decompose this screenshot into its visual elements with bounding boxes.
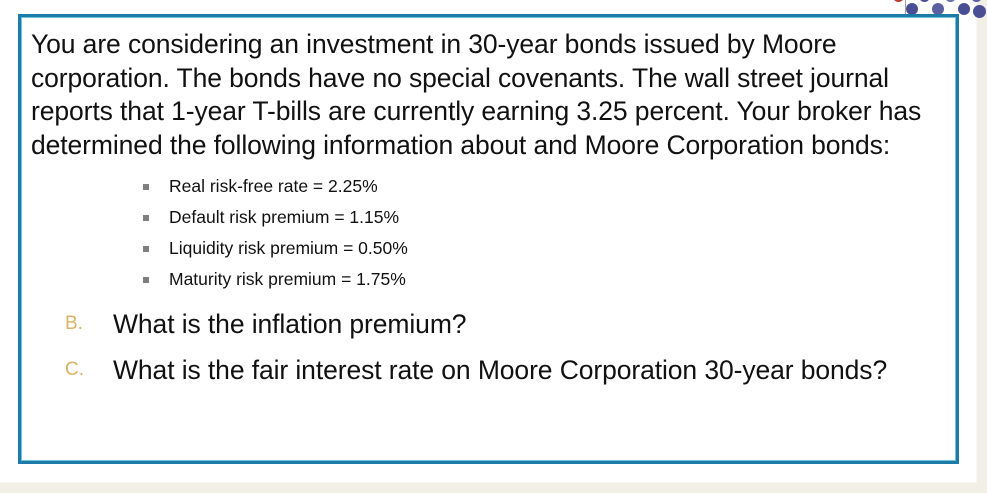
question-body-paragraph: You are considering an investment in 30-…	[21, 17, 956, 162]
question-item-b: B. What is the inflation premium?	[21, 307, 956, 341]
list-item: Maturity risk premium = 1.75%	[141, 264, 956, 295]
decor-dot-1	[919, 0, 930, 2]
question-text-c: What is the fair interest rate on Moore …	[113, 353, 933, 387]
slide-canvas: You are considering an investment in 30-…	[0, 0, 987, 493]
decor-dot-3	[971, 0, 982, 2]
decor-dot-0	[893, 0, 904, 2]
bond-premium-spec-list: Real risk-free rate = 2.25% Default risk…	[21, 171, 956, 295]
spec-item-label: Real risk-free rate = 2.25%	[169, 176, 378, 196]
list-item: Real risk-free rate = 2.25%	[141, 171, 956, 202]
lettered-question-list: B. What is the inflation premium? C. Wha…	[21, 307, 956, 387]
decor-dot-2	[945, 0, 956, 2]
question-marker-b: B.	[65, 313, 83, 335]
decor-dot-6	[958, 3, 970, 15]
list-item: Liquidity risk premium = 0.50%	[141, 233, 956, 264]
question-marker-c: C.	[65, 359, 84, 381]
question-content-box: You are considering an investment in 30-…	[18, 14, 959, 464]
list-item: Default risk premium = 1.15%	[141, 202, 956, 233]
spec-item-label: Default risk premium = 1.15%	[169, 207, 399, 227]
decor-dot-7	[973, 5, 986, 18]
spec-item-label: Liquidity risk premium = 0.50%	[169, 238, 408, 258]
question-text-b: What is the inflation premium?	[113, 307, 933, 341]
question-item-c: C. What is the fair interest rate on Moo…	[21, 353, 956, 387]
spec-item-label: Maturity risk premium = 1.75%	[169, 269, 406, 289]
